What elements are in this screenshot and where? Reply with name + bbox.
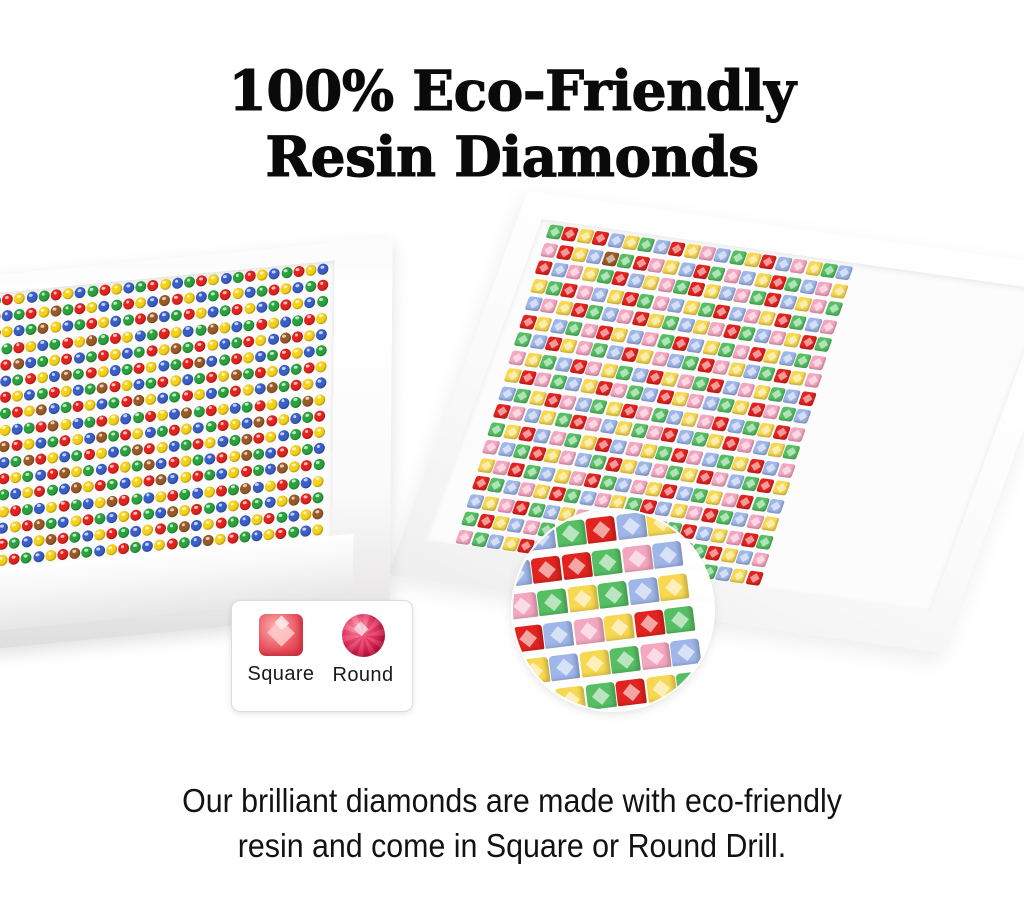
drill-bead (288, 510, 299, 522)
drill-bead (277, 462, 288, 474)
drill-bead (46, 501, 57, 513)
drill-bead (118, 543, 129, 555)
drill-bead (317, 279, 328, 291)
drill-bead (38, 290, 49, 302)
drill-bead (167, 522, 178, 534)
drill-bead (207, 339, 218, 351)
drill-bead (83, 497, 94, 509)
magnifier-rows (513, 510, 713, 710)
drill-bead (243, 368, 254, 380)
drill-bead (58, 532, 69, 544)
drill-bead (50, 305, 61, 317)
drill-bead (0, 506, 9, 518)
drill-bead (240, 498, 251, 510)
drill-bead (85, 383, 96, 395)
drill-bead (45, 550, 56, 562)
drill-bead (61, 386, 72, 398)
drill-bead (110, 365, 121, 377)
drill-bead (229, 418, 240, 430)
drill-bead (22, 503, 33, 515)
drill-bead (291, 363, 302, 375)
drill-bead (195, 307, 206, 319)
drill-bead (47, 452, 58, 464)
drill-bead (21, 536, 32, 548)
drill-bead (798, 391, 817, 406)
drill-bead (0, 295, 1, 307)
drill-bead (183, 309, 194, 321)
drill-bead (782, 444, 801, 459)
drill-bead (0, 408, 11, 420)
drill-bead (0, 489, 9, 501)
drill-bead (257, 269, 268, 281)
drill-bead (142, 524, 153, 536)
drill-bead (95, 464, 106, 476)
drill-bead (157, 425, 168, 437)
drill-bead (2, 294, 13, 306)
drill-bead (0, 391, 11, 403)
drill-bead (62, 304, 73, 316)
drill-bead (288, 494, 299, 506)
drill-bead (288, 526, 299, 538)
drill-bead (281, 283, 292, 295)
drill-bead (217, 419, 228, 431)
drill-bead (204, 486, 215, 498)
drill-bead (24, 422, 35, 434)
drill-bead (133, 395, 144, 407)
drill-bead (216, 468, 227, 480)
drill-bead (0, 473, 9, 485)
drill-bead (26, 291, 37, 303)
drill-bead (58, 516, 69, 528)
drill-bead (184, 292, 195, 304)
drill-bead (133, 378, 144, 390)
drill-bead (256, 285, 267, 297)
drill-bead (252, 497, 263, 509)
caption-text: Our brilliant diamonds are made with eco… (41, 778, 983, 868)
drill-bead (756, 534, 775, 549)
drill-bead (159, 327, 170, 339)
drill-bead (266, 398, 277, 410)
drill-bead (132, 427, 143, 439)
drill-bead (312, 524, 323, 536)
drill-bead (13, 358, 24, 370)
drill-bead (280, 299, 291, 311)
drill-bead (182, 374, 193, 386)
drill-bead (108, 413, 119, 425)
drill-bead (314, 443, 325, 455)
magnified-drill-bead (585, 681, 617, 710)
drill-bead (251, 530, 262, 542)
drill-bead (253, 465, 264, 477)
drill-bead (232, 304, 243, 316)
drill-bead (13, 325, 24, 337)
drill-bead (241, 466, 252, 478)
drill-bead (72, 433, 83, 445)
drill-bead (25, 356, 36, 368)
drill-bead (0, 457, 10, 469)
headline-line-2: Resin Diamonds (0, 124, 1024, 190)
drill-bead (172, 277, 183, 289)
drill-bead (205, 453, 216, 465)
drill-bead (111, 299, 122, 311)
drill-bead (111, 316, 122, 328)
drill-bead (206, 388, 217, 400)
drill-bead (215, 517, 226, 529)
drill-bead (835, 265, 854, 280)
drill-bead (217, 452, 228, 464)
drill-bead (82, 530, 93, 542)
drill-bead (830, 283, 849, 298)
drill-bead (119, 478, 130, 490)
drill-bead (59, 467, 70, 479)
drill-bead (123, 314, 134, 326)
drill-bead (172, 293, 183, 305)
drill-bead (36, 388, 47, 400)
drill-bead (218, 370, 229, 382)
drill-bead (86, 318, 97, 330)
drill-bead (242, 401, 253, 413)
drill-bead (70, 515, 81, 527)
drill-bead (38, 323, 49, 335)
drill-bead (96, 431, 107, 443)
drill-bead (204, 469, 215, 481)
legend-label-square: Square (242, 663, 320, 686)
drill-bead (84, 416, 95, 428)
tray-inner-left (0, 261, 334, 576)
drill-bead (208, 274, 219, 286)
drill-bead (181, 423, 192, 435)
drill-bead (1, 326, 12, 338)
drill-bead (255, 367, 266, 379)
drill-bead (279, 381, 290, 393)
drill-bead (70, 531, 81, 543)
drill-bead (193, 405, 204, 417)
drill-bead (23, 471, 34, 483)
drill-bead (300, 525, 311, 537)
drill-bead (316, 328, 327, 340)
drill-bead (241, 433, 252, 445)
drill-bead (218, 387, 229, 399)
caption-line-2: resin and come in Square or Round Drill. (41, 823, 983, 868)
drill-bead (0, 440, 10, 452)
drill-bead (315, 377, 326, 389)
drill-bead (84, 448, 95, 460)
drill-bead (96, 447, 107, 459)
drill-bead (317, 296, 328, 308)
drill-bead (181, 406, 192, 418)
drill-bead (94, 545, 105, 557)
drill-bead (99, 284, 110, 296)
drill-bead (314, 426, 325, 438)
drill-bead (37, 339, 48, 351)
drill-bead (47, 468, 58, 480)
drill-bead (122, 347, 133, 359)
drill-bead (292, 314, 303, 326)
drill-bead (291, 380, 302, 392)
drill-bead (243, 335, 254, 347)
drill-bead (83, 481, 94, 493)
drill-bead (304, 346, 315, 358)
drill-bead (60, 418, 71, 430)
drill-bead (194, 373, 205, 385)
drill-bead (135, 297, 146, 309)
drill-bead (182, 358, 193, 370)
drill-bead (22, 487, 33, 499)
drill-bead (196, 275, 207, 287)
drill-bead (267, 349, 278, 361)
drill-bead (232, 288, 243, 300)
drill-bead (87, 302, 98, 314)
drill-bead (171, 310, 182, 322)
drill-bead (169, 408, 180, 420)
drill-bead (279, 364, 290, 376)
drill-bead (169, 424, 180, 436)
drill-bead (180, 488, 191, 500)
drill-bead (111, 283, 122, 295)
drill-bead (179, 521, 190, 533)
drill-bead (167, 489, 178, 501)
drill-bead (34, 502, 45, 514)
drill-bead (819, 319, 838, 334)
drill-bead (228, 467, 239, 479)
drill-bead (23, 438, 34, 450)
drill-bead (278, 397, 289, 409)
drill-bead (219, 338, 230, 350)
drill-bead (121, 380, 132, 392)
magnified-drill-bead (682, 703, 713, 710)
drill-bead (269, 284, 280, 296)
drill-bead (242, 384, 253, 396)
drill-bead (316, 312, 327, 324)
drill-bead (24, 389, 35, 401)
drill-bead (208, 306, 219, 318)
drill-bead (279, 348, 290, 360)
drill-bead (144, 443, 155, 455)
drill-bead (229, 451, 240, 463)
drill-bead (168, 457, 179, 469)
drill-bead (229, 434, 240, 446)
drill-bead (761, 516, 780, 531)
drill-bead (73, 368, 84, 380)
drill-bead (145, 426, 156, 438)
drill-bead (119, 510, 130, 522)
drill-bead (191, 536, 202, 548)
drill-bead (305, 281, 316, 293)
drill-bead (13, 341, 24, 353)
drill-bead (84, 432, 95, 444)
drill-bead (312, 508, 323, 520)
drill-bead (228, 483, 239, 495)
drill-bead (97, 382, 108, 394)
drill-bead (0, 424, 10, 436)
drill-bead (170, 342, 181, 354)
drill-bead (158, 360, 169, 372)
drill-bead (157, 409, 168, 421)
drill-bead (745, 570, 764, 585)
drill-bead (14, 309, 25, 321)
drill-bead (278, 413, 289, 425)
drill-bead (254, 383, 265, 395)
drill-bead (290, 396, 301, 408)
drill-bead (244, 303, 255, 315)
drill-bead (157, 392, 168, 404)
drill-bead (314, 410, 325, 422)
drill-bead (36, 420, 47, 432)
drill-bead (264, 480, 275, 492)
drill-bead (123, 298, 134, 310)
drill-bead (160, 278, 171, 290)
drill-bead (239, 531, 250, 543)
drill-bead (143, 491, 154, 503)
drill-bead (301, 476, 312, 488)
drill-bead (33, 535, 44, 547)
drill-bead (33, 551, 44, 563)
drill-bead (48, 419, 59, 431)
magnified-square-drills-icon (513, 510, 713, 710)
drill-bead (264, 496, 275, 508)
drill-bead (155, 490, 166, 502)
drill-bead (772, 480, 791, 495)
drill-bead (109, 381, 120, 393)
drill-bead (277, 446, 288, 458)
drill-bead (61, 353, 72, 365)
drill-bead (268, 333, 279, 345)
drill-bead (227, 516, 238, 528)
drill-bead (266, 415, 277, 427)
drill-bead (147, 312, 158, 324)
drill-bead (231, 353, 242, 365)
round-drill-tray (0, 258, 392, 630)
drill-bead (220, 289, 231, 301)
drill-bead (134, 362, 145, 374)
magnified-drill-bead (651, 706, 683, 710)
drill-bead (301, 460, 312, 472)
drill-bead (106, 528, 117, 540)
drill-bead (230, 402, 241, 414)
drill-bead (313, 475, 324, 487)
round-drill-rows (0, 261, 334, 576)
drill-bead (131, 476, 142, 488)
drill-bead (228, 500, 239, 512)
drill-bead (26, 307, 37, 319)
drill-bead (110, 332, 121, 344)
drill-bead (46, 485, 57, 497)
drill-bead (303, 362, 314, 374)
drill-bead (34, 486, 45, 498)
drill-bead (98, 317, 109, 329)
drill-bead (107, 479, 118, 491)
drill-bead (133, 411, 144, 423)
drill-bead (193, 422, 204, 434)
drill-bead (195, 324, 206, 336)
drill-bead (305, 297, 316, 309)
drill-bead (63, 288, 74, 300)
drill-bead (132, 444, 143, 456)
drill-bead (82, 514, 93, 526)
drill-bead (106, 511, 117, 523)
drill-bead (280, 316, 291, 328)
drill-bead (73, 384, 84, 396)
drill-bead (122, 331, 133, 343)
drill-bead (315, 394, 326, 406)
drill-bead (300, 509, 311, 521)
drill-bead (121, 396, 132, 408)
drill-bead (317, 263, 328, 275)
drill-bead (142, 540, 153, 552)
drill-bead (1, 342, 12, 354)
drill-bead (169, 391, 180, 403)
drill-bead (194, 389, 205, 401)
drill-bead (75, 286, 86, 298)
drill-bead (245, 270, 256, 282)
drill-bead (182, 390, 193, 402)
drill-bead (252, 481, 263, 493)
drill-bead (24, 405, 35, 417)
drill-bead (58, 500, 69, 512)
drill-bead (61, 369, 72, 381)
drill-bead (207, 323, 218, 335)
drill-bead (179, 504, 190, 516)
headline-line-1: 100% Eco-Friendly (0, 58, 1024, 124)
drill-bead (192, 454, 203, 466)
drill-bead (206, 371, 217, 383)
drill-bead (289, 461, 300, 473)
drill-bead (194, 356, 205, 368)
drill-bead (10, 488, 21, 500)
drill-bead (218, 403, 229, 415)
drill-bead (291, 347, 302, 359)
drill-bead (304, 330, 315, 342)
drill-bead (289, 445, 300, 457)
drill-bead (195, 340, 206, 352)
drill-bead (814, 337, 833, 352)
drill-bead (230, 369, 241, 381)
drill-bead (230, 385, 241, 397)
drill-bead (0, 554, 8, 566)
drill-bead (72, 417, 83, 429)
drill-bead (49, 354, 60, 366)
drill-bead (170, 359, 181, 371)
drill-bead (106, 544, 117, 556)
drill-bead (48, 403, 59, 415)
drill-bead (206, 404, 217, 416)
drill-bead (148, 279, 159, 291)
drill-bead (254, 416, 265, 428)
drill-bead (217, 436, 228, 448)
drill-bead (231, 337, 242, 349)
drill-bead (219, 321, 230, 333)
drill-bead (25, 373, 36, 385)
drill-bead (122, 363, 133, 375)
drill-bead (74, 303, 85, 315)
drill-bead (254, 399, 265, 411)
drill-bead (0, 538, 8, 550)
drill-bead (207, 355, 218, 367)
drill-bead (71, 466, 82, 478)
drill-bead (10, 472, 21, 484)
drill-bead (82, 546, 93, 558)
drill-bead (243, 352, 254, 364)
drill-bead (203, 502, 214, 514)
drill-bead (144, 475, 155, 487)
drill-bead (167, 505, 178, 517)
drill-bead (215, 533, 226, 545)
drill-bead (156, 458, 167, 470)
drill-bead (290, 412, 301, 424)
drill-bead (71, 482, 82, 494)
drill-bead (85, 399, 96, 411)
drill-bead (233, 271, 244, 283)
